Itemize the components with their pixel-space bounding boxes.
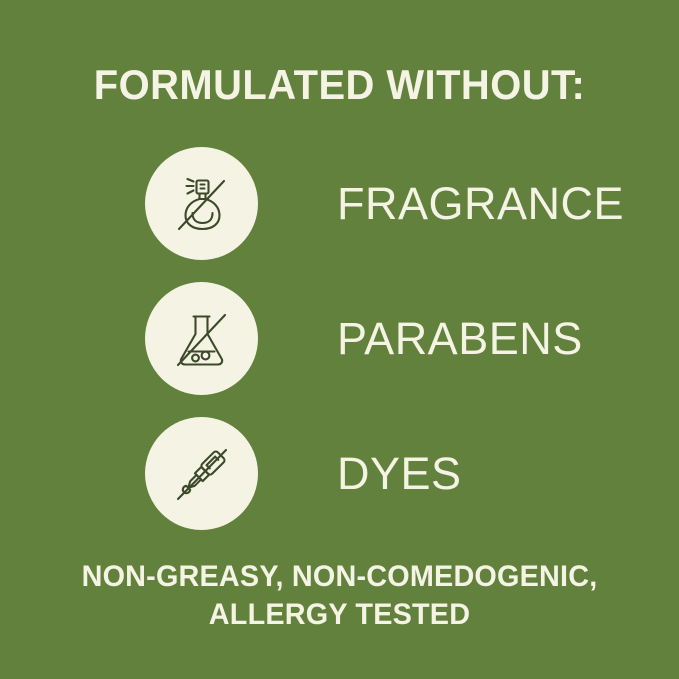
list-item: FRAGRANCE [0, 147, 679, 260]
no-fragrance-icon [166, 168, 238, 240]
badge-circle-parabens [145, 282, 258, 395]
footer-line-1: NON-GREASY, NON-COMEDOGENIC, [14, 558, 666, 596]
page-title: FORMULATED WITHOUT: [17, 62, 662, 108]
footer-line-2: ALLERGY TESTED [14, 596, 666, 634]
list-item-label: DYES [337, 417, 462, 530]
badge-circle-fragrance [145, 147, 258, 260]
claims-list: FRAGRANCE PARABENS [0, 147, 679, 552]
formulated-without-poster: FORMULATED WITHOUT: [0, 0, 679, 679]
list-item: DYES [0, 417, 679, 530]
list-item: PARABENS [0, 282, 679, 395]
badge-circle-dyes [145, 417, 258, 530]
no-dyes-dropper-icon [166, 438, 238, 510]
no-parabens-flask-icon [166, 303, 238, 375]
list-item-label: PARABENS [337, 282, 583, 395]
list-item-label: FRAGRANCE [337, 147, 624, 260]
footer-claims: NON-GREASY, NON-COMEDOGENIC, ALLERGY TES… [14, 558, 666, 633]
